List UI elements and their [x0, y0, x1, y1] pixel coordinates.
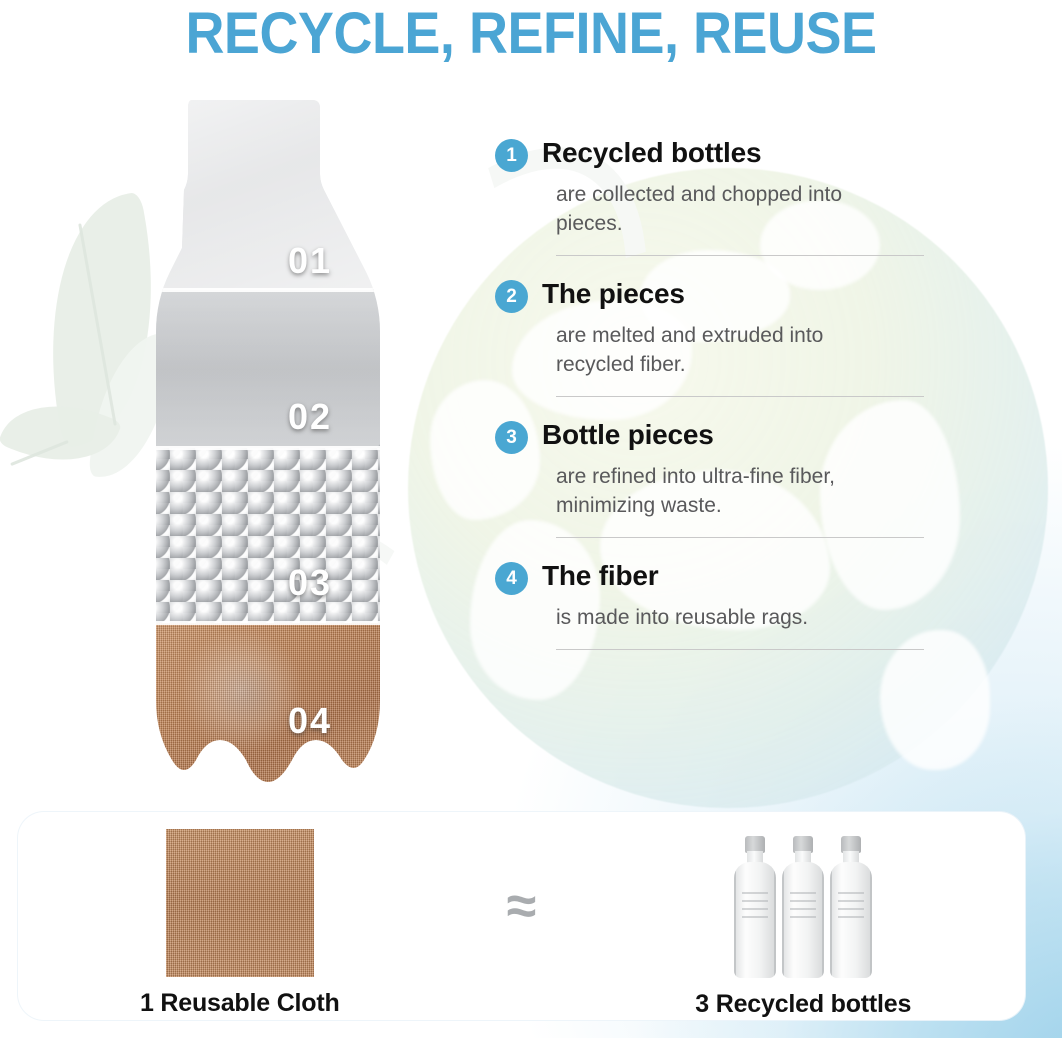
bottle-band-01: [118, 100, 386, 290]
page-title: RECYCLE, REFINE, REUSE: [37, 2, 1025, 66]
mini-bottle: [734, 836, 776, 978]
leaf-vein: [78, 223, 117, 425]
bottle-band-number-04: 04: [288, 700, 332, 742]
band-separator: [118, 621, 386, 625]
step-item-2: 2 The pieces are melted and extruded int…: [495, 277, 935, 397]
band-separator: [118, 446, 386, 450]
step-item-3: 3 Bottle pieces are refined into ultra-f…: [495, 418, 935, 538]
step-header: 1 Recycled bottles: [495, 136, 935, 172]
step-divider-2: [556, 396, 924, 397]
recycled-bottles-image: [734, 828, 872, 978]
step-header: 3 Bottle pieces: [495, 418, 935, 454]
band-separator: [118, 288, 386, 292]
step-title-1: Recycled bottles: [542, 136, 761, 170]
step-number-badge-1: 1: [495, 139, 528, 172]
step-title-3: Bottle pieces: [542, 418, 714, 452]
bottle-body: [782, 862, 824, 978]
leaf-vein: [10, 440, 69, 466]
comparison-operator-wrap: ≈: [462, 879, 582, 953]
step-header: 4 The fiber: [495, 559, 935, 595]
cloth-swatch-image: [166, 829, 314, 977]
step-number-badge-4: 4: [495, 562, 528, 595]
comparison-left: 1 Reusable Cloth: [18, 815, 462, 1018]
mini-bottle: [830, 836, 872, 978]
comparison-right-label: 3 Recycled bottles: [695, 990, 911, 1019]
step-body-1: are collected and chopped into pieces.: [556, 180, 886, 238]
step-divider-4: [556, 649, 924, 650]
bottle-band-number-03: 03: [288, 562, 332, 604]
bottle-silhouette: 01 02 03 04: [118, 100, 386, 800]
step-title-4: The fiber: [542, 559, 658, 593]
bottle-illustration: 01 02 03 04: [118, 100, 386, 800]
bottle-body: [830, 862, 872, 978]
step-header: 2 The pieces: [495, 277, 935, 313]
steps-list: 1 Recycled bottles are collected and cho…: [495, 136, 935, 650]
step-divider-3: [556, 537, 924, 538]
globe-continent-shape: [880, 630, 990, 770]
bottle-rings: [790, 892, 816, 918]
step-number-badge-2: 2: [495, 280, 528, 313]
step-divider-1: [556, 255, 924, 256]
bottle-band-03: [118, 448, 386, 623]
comparison-card: 1 Reusable Cloth ≈: [18, 812, 1025, 1020]
mini-bottle: [782, 836, 824, 978]
infographic-root: RECYCLE, REFINE, REUSE 01 02 03 04 1 Rec…: [0, 0, 1062, 1038]
step-number-badge-3: 3: [495, 421, 528, 454]
leaf-icon: [0, 382, 122, 484]
step-title-2: The pieces: [542, 277, 685, 311]
step-body-3: are refined into ultra-fine fiber, minim…: [556, 462, 886, 520]
bottle-band-04: [118, 623, 386, 800]
bottle-band-02: [118, 290, 386, 448]
bottle-band-number-02: 02: [288, 396, 332, 438]
bottle-band-number-01: 01: [288, 240, 332, 282]
approximately-equal-icon: ≈: [507, 879, 537, 933]
step-body-4: is made into reusable rags.: [556, 603, 886, 632]
bottle-rings: [742, 892, 768, 918]
bottle-rings: [838, 892, 864, 918]
bottle-body: [734, 862, 776, 978]
comparison-right: 3 Recycled bottles: [582, 814, 1026, 1019]
step-body-2: are melted and extruded into recycled fi…: [556, 321, 886, 379]
comparison-left-label: 1 Reusable Cloth: [140, 989, 340, 1018]
step-item-1: 1 Recycled bottles are collected and cho…: [495, 136, 935, 256]
step-item-4: 4 The fiber is made into reusable rags.: [495, 559, 935, 650]
